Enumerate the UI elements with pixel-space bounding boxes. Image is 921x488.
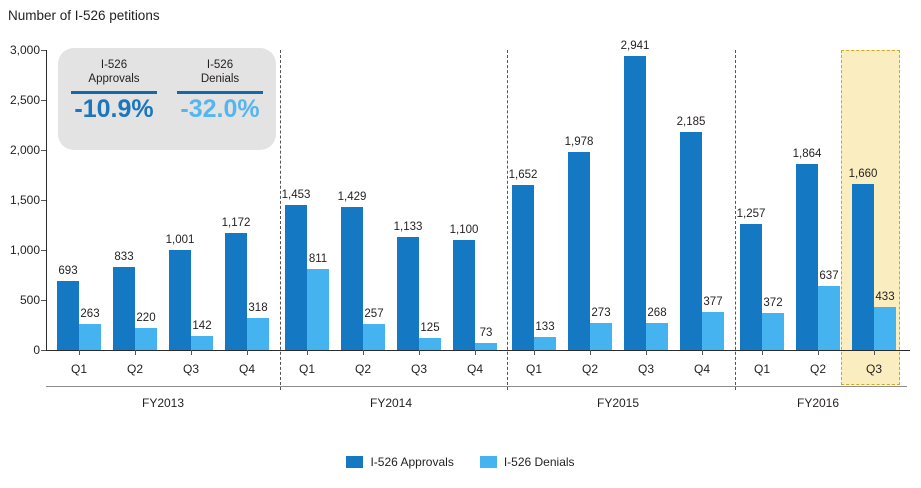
fiscal-year-rule: [501, 386, 735, 387]
bar-denials: [762, 313, 784, 350]
y-axis-tick-label: 500: [0, 294, 40, 306]
bar-approvals: [568, 152, 590, 350]
bar-value-label: 273: [579, 308, 623, 320]
fiscal-year-label: FY2015: [501, 396, 735, 410]
legend-item[interactable]: I-526 Approvals: [346, 455, 453, 469]
callout-denials-title: I-526 Denials: [170, 58, 270, 87]
bar-value-label: 372: [751, 298, 795, 310]
bar-value-label: 1,652: [501, 170, 545, 182]
x-axis-tick-mark: [475, 350, 476, 355]
quarter-label: Q1: [282, 362, 332, 376]
callout-denials-title-line2: Denials: [201, 73, 239, 85]
legend-swatch-icon: [346, 456, 363, 468]
fiscal-year-separator: [280, 50, 281, 390]
bar-approvals: [680, 132, 702, 351]
fiscal-year-rule: [729, 386, 907, 387]
callout-approvals-title-line1: I-526: [101, 59, 127, 71]
quarter-label: Q1: [54, 362, 104, 376]
fiscal-year-rule: [46, 386, 280, 387]
bar-value-label: 637: [807, 271, 851, 283]
callout-denials: I-526 Denials -32.0%: [170, 58, 270, 123]
bar-approvals: [169, 250, 191, 350]
callout-denials-value: -32.0%: [170, 96, 270, 124]
bar-value-label: 2,185: [669, 117, 713, 129]
bar-approvals: [341, 207, 363, 350]
bar-denials: [363, 324, 385, 350]
bar-value-label: 257: [352, 309, 396, 321]
x-axis-tick-mark: [135, 350, 136, 355]
bar-value-label: 318: [236, 303, 280, 315]
callout-approvals: I-526 Approvals -10.9%: [64, 58, 164, 123]
bar-denials: [475, 343, 497, 350]
bar-value-label: 73: [464, 328, 508, 340]
bar-value-label: 1,660: [841, 169, 885, 181]
bar-denials: [702, 312, 724, 350]
bar-value-label: 1,133: [386, 222, 430, 234]
x-axis-tick-mark: [590, 350, 591, 355]
bar-value-label: 125: [408, 323, 452, 335]
y-axis-tick-label: 2,000: [0, 144, 40, 156]
quarter-label: Q2: [338, 362, 388, 376]
fiscal-year-rule: [274, 386, 508, 387]
quarter-label: Q3: [166, 362, 216, 376]
callout-denials-title-line1: I-526: [207, 59, 233, 71]
fiscal-year-label: FY2013: [46, 396, 280, 410]
x-axis-tick-mark: [419, 350, 420, 355]
bar-value-label: 1,429: [330, 192, 374, 204]
bar-value-label: 1,172: [214, 218, 258, 230]
bar-value-label: 377: [691, 297, 735, 309]
bar-value-label: 220: [124, 313, 168, 325]
bar-value-label: 263: [68, 309, 112, 321]
x-axis-tick-mark: [534, 350, 535, 355]
quarter-label: Q2: [110, 362, 160, 376]
chart-container: Number of I-526 petitions 05001,0001,500…: [0, 0, 921, 488]
bar-value-label: 433: [863, 292, 907, 304]
callout-approvals-value: -10.9%: [64, 96, 164, 124]
x-axis-tick-mark: [191, 350, 192, 355]
bar-denials: [247, 318, 269, 350]
quarter-label: Q3: [621, 362, 671, 376]
quarter-label: Q1: [737, 362, 787, 376]
quarter-label: Q4: [450, 362, 500, 376]
bar-value-label: 811: [296, 254, 340, 266]
bar-value-label: 1,978: [557, 137, 601, 149]
x-axis-tick-mark: [247, 350, 248, 355]
bar-denials: [874, 307, 896, 350]
legend-label: I-526 Approvals: [370, 455, 453, 469]
quarter-label: Q1: [509, 362, 559, 376]
bar-denials: [191, 336, 213, 350]
x-axis-tick-mark: [646, 350, 647, 355]
x-axis-tick-mark: [363, 350, 364, 355]
quarter-label: Q3: [394, 362, 444, 376]
y-axis-tick-label: 0: [0, 344, 40, 356]
y-axis-tick-label: 2,500: [0, 94, 40, 106]
bar-approvals: [740, 224, 762, 350]
callout-approvals-rule: [71, 91, 157, 94]
bar-value-label: 833: [102, 252, 146, 264]
x-axis-tick-mark: [762, 350, 763, 355]
bar-denials: [419, 338, 441, 351]
bar-value-label: 1,453: [274, 190, 318, 202]
bar-approvals: [113, 267, 135, 350]
callout-denials-rule: [177, 91, 263, 94]
legend-label: I-526 Denials: [504, 455, 575, 469]
bar-denials: [534, 337, 556, 350]
legend-item[interactable]: I-526 Denials: [480, 455, 575, 469]
bar-value-label: 1,100: [442, 225, 486, 237]
bar-value-label: 693: [46, 266, 90, 278]
fiscal-year-label: FY2014: [274, 396, 508, 410]
fiscal-year-label: FY2016: [729, 396, 907, 410]
bar-approvals: [285, 205, 307, 350]
quarter-label: Q4: [222, 362, 272, 376]
bar-denials: [79, 324, 101, 350]
bar-denials: [135, 328, 157, 350]
bar-value-label: 268: [635, 308, 679, 320]
x-axis-tick-mark: [307, 350, 308, 355]
bar-value-label: 1,257: [729, 209, 773, 221]
bar-approvals: [624, 56, 646, 350]
bar-value-label: 142: [180, 321, 224, 333]
x-axis-tick-mark: [79, 350, 80, 355]
x-axis-line: [46, 350, 910, 351]
bar-value-label: 1,864: [785, 149, 829, 161]
quarter-label: Q2: [793, 362, 843, 376]
bar-approvals: [796, 164, 818, 350]
y-axis-tick-label: 1,000: [0, 244, 40, 256]
callout-box: I-526 Approvals -10.9% I-526 Denials -32…: [58, 48, 276, 150]
y-axis-tick-label: 1,500: [0, 194, 40, 206]
bar-approvals: [852, 184, 874, 350]
quarter-label: Q4: [677, 362, 727, 376]
x-axis-tick-mark: [818, 350, 819, 355]
y-axis-line: [46, 50, 47, 350]
callout-approvals-title: I-526 Approvals: [64, 58, 164, 87]
bar-denials: [818, 286, 840, 350]
chart-legend: I-526 ApprovalsI-526 Denials: [0, 455, 921, 469]
bar-value-label: 133: [523, 322, 567, 334]
y-axis-tick-label: 3,000: [0, 44, 40, 56]
legend-swatch-icon: [480, 456, 497, 468]
x-axis-tick-mark: [702, 350, 703, 355]
bar-approvals: [225, 233, 247, 350]
bar-denials: [307, 269, 329, 350]
bar-denials: [646, 323, 668, 350]
bar-value-label: 2,941: [613, 41, 657, 53]
bar-value-label: 1,001: [158, 235, 202, 247]
quarter-label: Q3: [849, 362, 899, 376]
quarter-label: Q2: [565, 362, 615, 376]
bar-denials: [590, 323, 612, 350]
x-axis-tick-mark: [874, 350, 875, 355]
callout-approvals-title-line2: Approvals: [88, 73, 139, 85]
